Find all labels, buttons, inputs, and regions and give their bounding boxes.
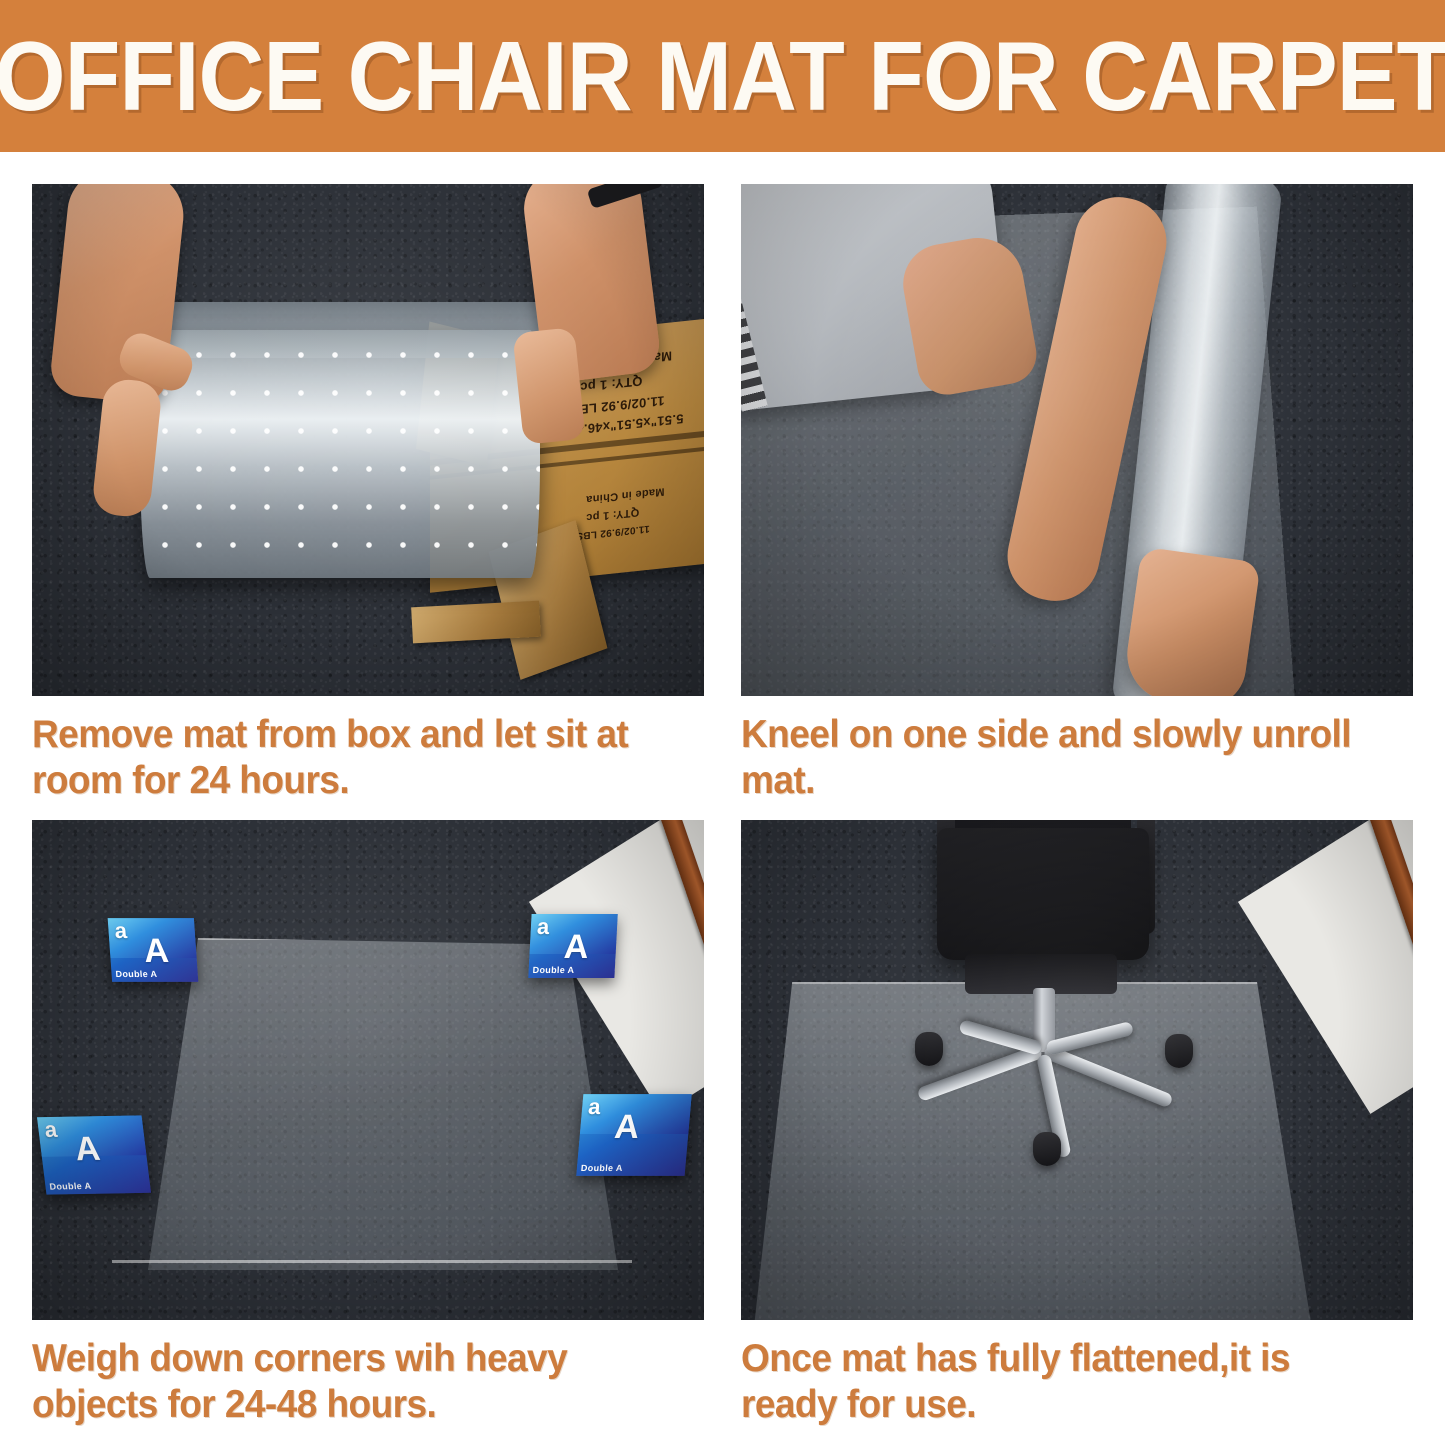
step-1-photo: Made in China QTY: 1 pc 11.02/9.92 LBS 5… xyxy=(32,184,704,696)
box-flap-bottom xyxy=(411,601,541,644)
step-card-1: Made in China QTY: 1 pc 11.02/9.92 LBS 5… xyxy=(32,184,704,803)
ream-brand: Double A xyxy=(532,965,574,975)
ream-brand: Double A xyxy=(580,1163,623,1173)
chair-caster-right xyxy=(1165,1034,1193,1068)
step-2-caption: Kneel on one side and slowly unroll mat. xyxy=(741,712,1379,803)
weight-box-bottom-right: a A Double A xyxy=(576,1094,692,1176)
ream-letter-small: a xyxy=(43,1119,58,1141)
ream-brand: Double A xyxy=(115,969,157,979)
step-4-photo xyxy=(741,820,1413,1320)
chair-seat xyxy=(937,828,1149,960)
step-4-caption: Once mat has fully flattened,it is ready… xyxy=(741,1336,1379,1427)
ream-letter-big: A xyxy=(613,1110,641,1144)
step-2-photo xyxy=(741,184,1413,696)
mat-front-edge xyxy=(112,1260,632,1263)
ream-letter-big: A xyxy=(73,1132,102,1166)
ream-letter-small: a xyxy=(114,920,128,942)
step-1-caption: Remove mat from box and let sit at room … xyxy=(32,712,670,803)
step-3-photo: a A Double A a A Double A a A Double A a… xyxy=(32,820,704,1320)
hand-pressing-mat xyxy=(1121,546,1261,696)
mat-stud-pattern xyxy=(140,330,540,578)
steps-grid: Made in China QTY: 1 pc 11.02/9.92 LBS 5… xyxy=(0,152,1445,1440)
box-label-line2-b: QTY: 1 pc xyxy=(586,506,639,524)
chair-caster-left xyxy=(915,1032,943,1066)
weight-box-bottom-left: a A Double A xyxy=(37,1115,151,1194)
header-banner: OFFICE CHAIR MAT FOR CARPET xyxy=(0,0,1445,152)
page-title: OFFICE CHAIR MAT FOR CARPET xyxy=(0,27,1445,125)
ream-letter-big: A xyxy=(563,930,589,964)
shorts-side-stripe xyxy=(741,260,768,412)
ream-letter-small: a xyxy=(536,916,549,938)
box-label-line1-b: Made in China xyxy=(586,485,664,505)
flat-mat xyxy=(118,938,618,1270)
weight-box-top-left: a A Double A xyxy=(108,918,199,982)
ream-letter-big: A xyxy=(143,934,170,968)
ream-brand: Double A xyxy=(49,1181,92,1192)
step-card-2: Kneel on one side and slowly unroll mat. xyxy=(741,184,1413,803)
rolled-mat xyxy=(140,330,540,578)
ream-letter-small: a xyxy=(587,1096,601,1118)
weight-box-top-right: a A Double A xyxy=(528,914,617,978)
chair-caster-front xyxy=(1033,1132,1061,1166)
step-3-caption: Weigh down corners wih heavy objects for… xyxy=(32,1336,670,1427)
step-card-3: a A Double A a A Double A a A Double A a… xyxy=(32,820,704,1427)
box-label-line3-b: 11.02/9.92 LBS xyxy=(576,523,650,542)
step-card-4: Once mat has fully flattened,it is ready… xyxy=(741,820,1413,1427)
right-fingers xyxy=(512,327,585,445)
